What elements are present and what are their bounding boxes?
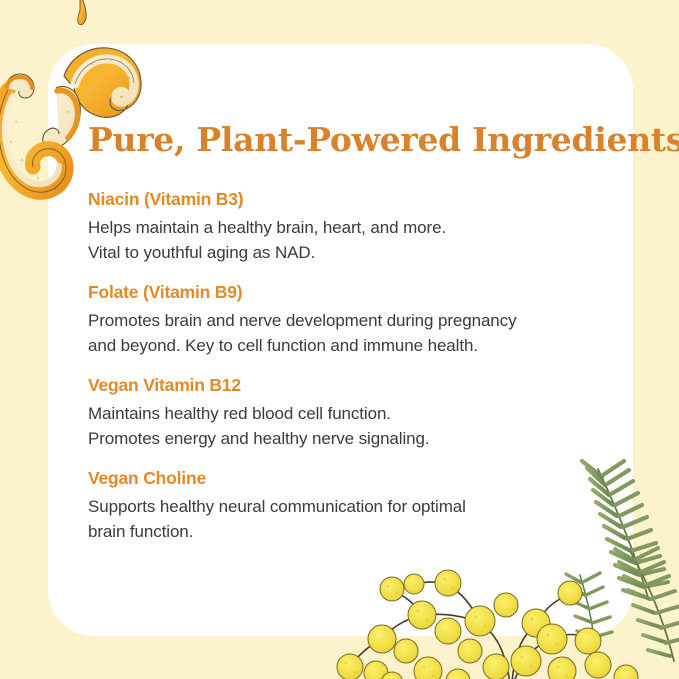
- description-line: Supports healthy neural communication fo…: [88, 494, 605, 519]
- white-content-card: Pure, Plant-Powered Ingredients Niacin (…: [48, 44, 633, 636]
- page-title: Pure, Plant-Powered Ingredients: [88, 122, 605, 158]
- description-line: Helps maintain a healthy brain, heart, a…: [88, 215, 605, 240]
- ingredient-description: Supports healthy neural communication fo…: [88, 494, 605, 544]
- ingredient-name: Vegan Vitamin B12: [88, 374, 605, 398]
- ingredient-name: Niacin (Vitamin B3): [88, 188, 605, 212]
- description-line: Maintains healthy red blood cell functio…: [88, 401, 605, 426]
- description-line: brain function.: [88, 519, 605, 544]
- ingredient-description: Promotes brain and nerve development dur…: [88, 308, 605, 358]
- ingredient-panel: Pure, Plant-Powered Ingredients Niacin (…: [0, 0, 679, 679]
- ingredient-description: Maintains healthy red blood cell functio…: [88, 401, 605, 451]
- ingredient-description: Helps maintain a healthy brain, heart, a…: [88, 215, 605, 265]
- description-line: Promotes brain and nerve development dur…: [88, 308, 605, 333]
- ingredient-section-niacin: Niacin (Vitamin B3) Helps maintain a hea…: [88, 188, 605, 265]
- ingredient-name: Folate (Vitamin B9): [88, 281, 605, 305]
- ingredient-section-folate: Folate (Vitamin B9) Promotes brain and n…: [88, 281, 605, 358]
- card-content: Pure, Plant-Powered Ingredients Niacin (…: [88, 122, 605, 544]
- description-line: Promotes energy and healthy nerve signal…: [88, 426, 605, 451]
- ingredient-section-vitamin-b12: Vegan Vitamin B12 Maintains healthy red …: [88, 374, 605, 451]
- ingredient-section-choline: Vegan Choline Supports healthy neural co…: [88, 467, 605, 544]
- ingredient-name: Vegan Choline: [88, 467, 605, 491]
- description-line: and beyond. Key to cell function and imm…: [88, 333, 605, 358]
- description-line: Vital to youthful aging as NAD.: [88, 240, 605, 265]
